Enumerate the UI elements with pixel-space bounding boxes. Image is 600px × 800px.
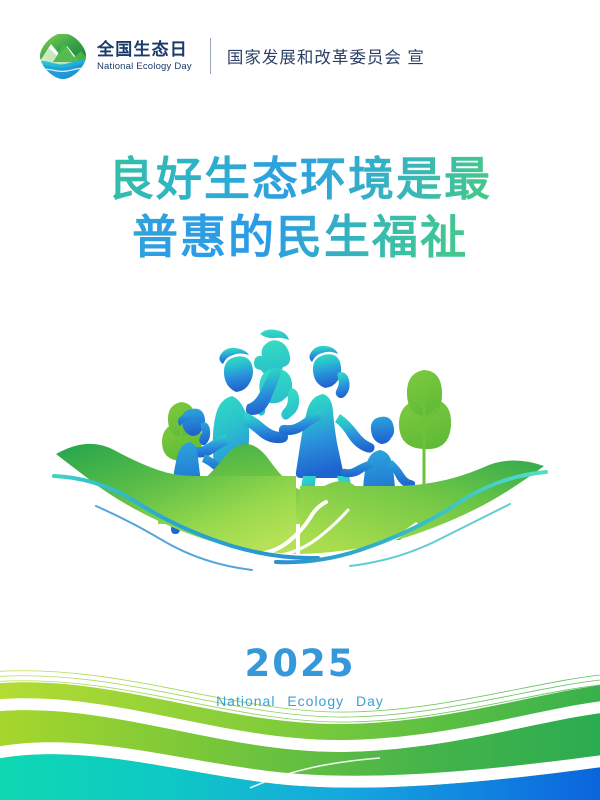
year-subtitle: National Ecology Day	[0, 691, 600, 711]
header-divider	[210, 38, 211, 74]
logo-title-en: National Ecology Day	[97, 61, 192, 73]
title-line-2: 普惠的民生福祉	[0, 208, 600, 266]
year-number: 2025	[0, 643, 600, 685]
tree-right-icon	[399, 370, 451, 486]
poster-title: 良好生态环境是最 普惠的民生福祉	[0, 150, 600, 266]
title-line-1: 良好生态环境是最	[0, 150, 600, 208]
logo-title-cn: 全国生态日	[97, 40, 192, 60]
year-block: 2025 National Ecology Day	[0, 643, 600, 711]
family-on-green-leaf-illustration	[40, 326, 560, 576]
logo-text-block: 全国生态日 National Ecology Day	[97, 40, 192, 73]
poster-header: 全国生态日 National Ecology Day 国家发展和改革委员会 宣	[38, 30, 425, 82]
header-organization: 国家发展和改革委员会 宣	[227, 44, 425, 68]
ecology-day-emblem-icon	[38, 31, 88, 81]
